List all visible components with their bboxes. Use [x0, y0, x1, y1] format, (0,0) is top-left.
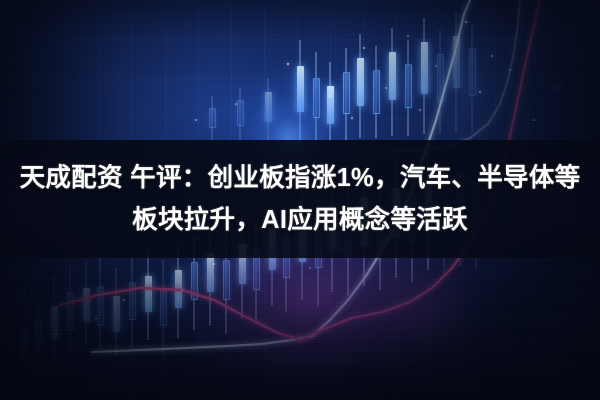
- candlestick-wick: [456, 12, 457, 132]
- candlestick: [35, 300, 42, 372]
- sparkle-dot: [287, 63, 290, 66]
- candlestick: [421, 18, 428, 134]
- sparkle-dot: [435, 65, 438, 68]
- candlestick-body: [207, 254, 214, 292]
- sparkle-dot: [95, 317, 96, 318]
- sparkle-dot: [419, 109, 420, 110]
- candlestick-wick: [300, 40, 301, 146]
- sparkle-dot: [385, 87, 387, 89]
- candlestick-wick: [392, 28, 393, 136]
- candlestick-body: [237, 100, 244, 126]
- candlestick: [51, 276, 58, 360]
- candlestick: [97, 258, 104, 350]
- candlestick: [83, 262, 90, 344]
- candlestick-body: [209, 108, 216, 128]
- candlestick: [357, 34, 364, 138]
- candlestick-wick: [212, 96, 213, 140]
- sparkle-dot: [363, 47, 365, 49]
- headline-block: 天成配资 午评：创业板指涨1%，汽车、半导体等 板块拉升，AI应用概念等活跃: [0, 140, 600, 258]
- candlestick-wick: [178, 244, 179, 338]
- sparkle-dot: [123, 299, 126, 302]
- candlestick-body: [35, 318, 42, 348]
- sparkle-dot: [195, 119, 197, 121]
- candlestick-body: [437, 54, 444, 102]
- candlestick: [453, 12, 460, 132]
- candlestick-wick: [86, 262, 87, 344]
- candlestick-wick: [360, 34, 361, 138]
- headline-line-2: 板块拉升，AI应用概念等活跃: [132, 200, 468, 240]
- candlestick-body: [83, 288, 90, 322]
- candlestick-wick: [54, 276, 55, 360]
- candlestick-wick: [440, 30, 441, 134]
- candlestick: [21, 288, 28, 380]
- candlestick: [175, 244, 182, 338]
- sparkle-dot: [465, 21, 467, 23]
- candlestick-body: [469, 48, 476, 96]
- candlestick: [265, 78, 272, 140]
- candlestick-wick: [100, 258, 101, 350]
- candlestick: [113, 268, 120, 356]
- candlestick-body: [327, 86, 334, 124]
- candlestick-body: [373, 70, 380, 114]
- candlestick-body: [175, 270, 182, 308]
- candlestick-wick: [38, 300, 39, 372]
- candlestick-body: [191, 262, 198, 300]
- candlestick-wick: [424, 18, 425, 134]
- sparkle-dot: [491, 55, 492, 56]
- sparkle-dot: [213, 263, 215, 265]
- candlestick: [469, 24, 476, 132]
- sparkle-dot: [509, 69, 511, 71]
- candlestick: [297, 40, 304, 146]
- sparkle-dot: [329, 95, 330, 96]
- candlestick-body: [357, 58, 364, 106]
- candlestick-body: [21, 330, 28, 356]
- candlestick-body: [51, 306, 58, 340]
- candlestick-wick: [268, 78, 269, 140]
- candlestick-body: [453, 36, 460, 88]
- candlestick-body: [145, 276, 152, 312]
- candlestick: [343, 48, 350, 140]
- candlestick-body: [97, 286, 104, 326]
- candlestick: [129, 254, 136, 348]
- candlestick: [145, 248, 152, 340]
- trend-line-curve-right: [390, 0, 520, 152]
- sparkle-dot: [479, 91, 482, 94]
- candlestick-wick: [116, 268, 117, 356]
- candlestick-body: [405, 64, 412, 108]
- candlestick-wick: [24, 288, 25, 380]
- candlestick-wick: [330, 62, 331, 140]
- sparkle-dot: [533, 119, 534, 120]
- candlestick-wick: [132, 254, 133, 348]
- candlestick-body: [67, 292, 74, 330]
- candlestick-body: [265, 92, 272, 122]
- sparkle-dot: [55, 333, 57, 335]
- candlestick: [389, 28, 396, 136]
- candlestick: [313, 52, 320, 142]
- candlestick: [437, 30, 444, 134]
- candlestick-body: [313, 78, 320, 118]
- sparkle-dot: [181, 289, 184, 292]
- candlestick: [160, 260, 167, 354]
- sparkle-dot: [407, 35, 408, 36]
- candlestick-wick: [70, 266, 71, 352]
- candlestick-body: [297, 66, 304, 112]
- candlestick-wick: [163, 260, 164, 354]
- sparkle-dot: [147, 275, 148, 276]
- candlestick-wick: [148, 248, 149, 340]
- sparkle-dot: [557, 87, 560, 90]
- sparkle-dot: [235, 103, 238, 106]
- candlestick-body: [343, 72, 350, 114]
- candlestick: [373, 46, 380, 138]
- candlestick-wick: [408, 40, 409, 136]
- candlestick: [405, 40, 412, 136]
- sparkle-dot: [309, 267, 311, 269]
- candlestick-wick: [472, 24, 473, 132]
- candlestick-body: [223, 260, 230, 300]
- promo-banner: 天成配资 午评：创业板指涨1%，汽车、半导体等 板块拉升，AI应用概念等活跃: [0, 0, 600, 400]
- candlestick-wick: [346, 48, 347, 140]
- candlestick: [327, 62, 334, 140]
- candlestick: [209, 96, 216, 140]
- candlestick-body: [389, 52, 396, 100]
- candlestick-body: [160, 288, 167, 326]
- candlestick-wick: [240, 88, 241, 140]
- candlestick: [237, 88, 244, 140]
- candlestick-wick: [316, 52, 317, 142]
- candlestick-body: [129, 282, 136, 320]
- candlestick-wick: [376, 46, 377, 138]
- candlestick-body: [113, 296, 120, 332]
- candlestick-body: [421, 42, 428, 94]
- headline-line-1: 天成配资 午评：创业板指涨1%，汽车、半导体等: [20, 158, 581, 198]
- candlestick: [67, 266, 74, 352]
- sparkle-dot: [351, 117, 354, 120]
